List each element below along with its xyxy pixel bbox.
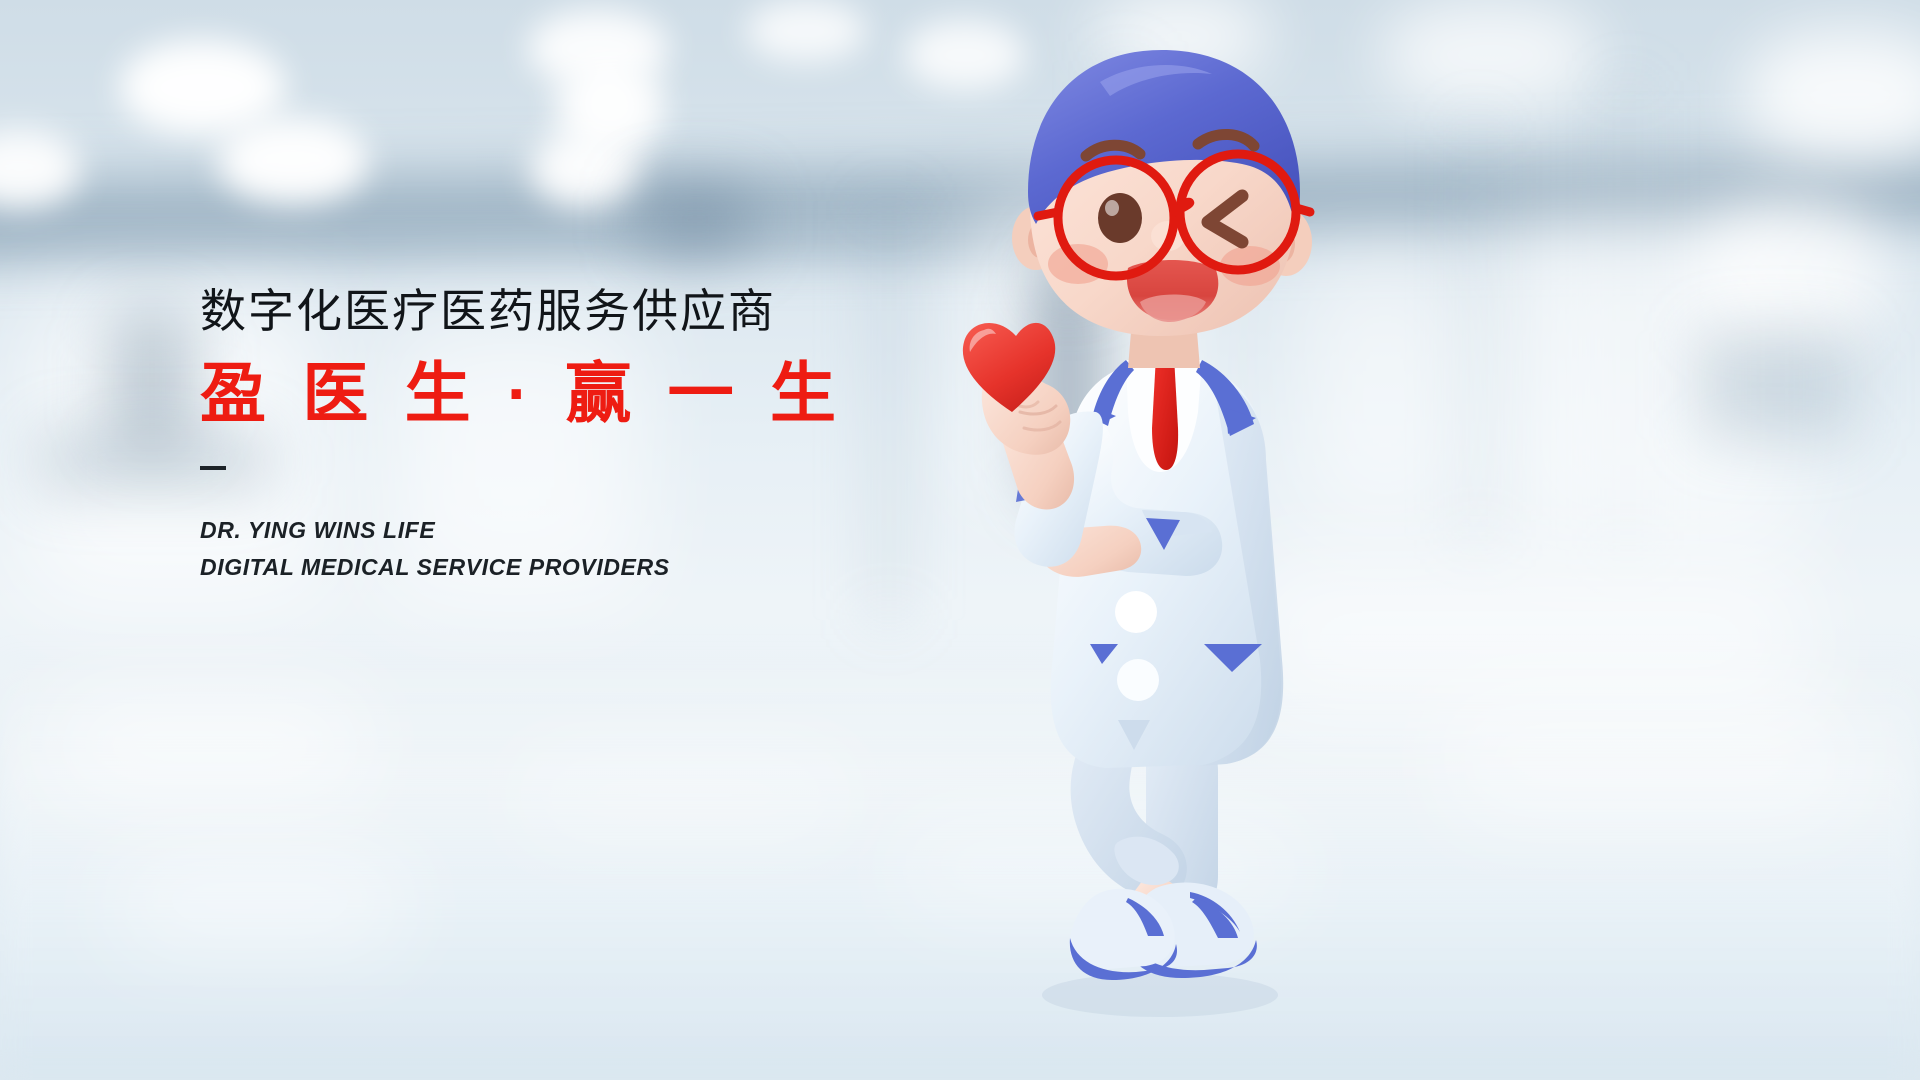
glasses-bridge-2 [1174,208,1180,212]
eye-open [1098,193,1142,243]
page-slogan: 盈 医 生 · 赢 一 生 [200,360,960,426]
subtitle-line-2: DIGITAL MEDICAL SERVICE PROVIDERS [200,549,960,586]
window-panel [1500,220,1800,550]
red-tie [1152,356,1178,470]
glasses-temple-right [1296,208,1310,212]
equipment-silhouette [1700,330,1850,440]
eye-open-glint [1105,200,1119,216]
subtitle-line-1: DR. YING WINS LIFE [200,512,960,549]
divider-rule [200,466,226,470]
doctor-mascot-illustration [950,20,1380,1040]
page-headline: 数字化医疗医药服务供应商 [200,288,960,334]
ceiling-light-bokeh [528,10,668,88]
coat-button [1115,591,1157,633]
ceiling-light-bokeh [120,40,285,135]
text-block: 数字化医疗医药服务供应商 盈 医 生 · 赢 一 生 DR. YING WINS… [200,288,960,587]
figure-silhouette [110,310,194,450]
hero-banner: 数字化医疗医药服务供应商 盈 医 生 · 赢 一 生 DR. YING WINS… [0,0,1920,1080]
glasses-temple-left [1038,212,1058,216]
ceiling-light-bokeh [556,60,664,156]
ceiling-light-bokeh [746,0,866,62]
coat-button [1117,659,1159,701]
ground-shadow [1042,973,1278,1017]
subtitle-block: DR. YING WINS LIFE DIGITAL MEDICAL SERVI… [200,512,960,587]
ceiling-light-bokeh [1380,0,1600,110]
